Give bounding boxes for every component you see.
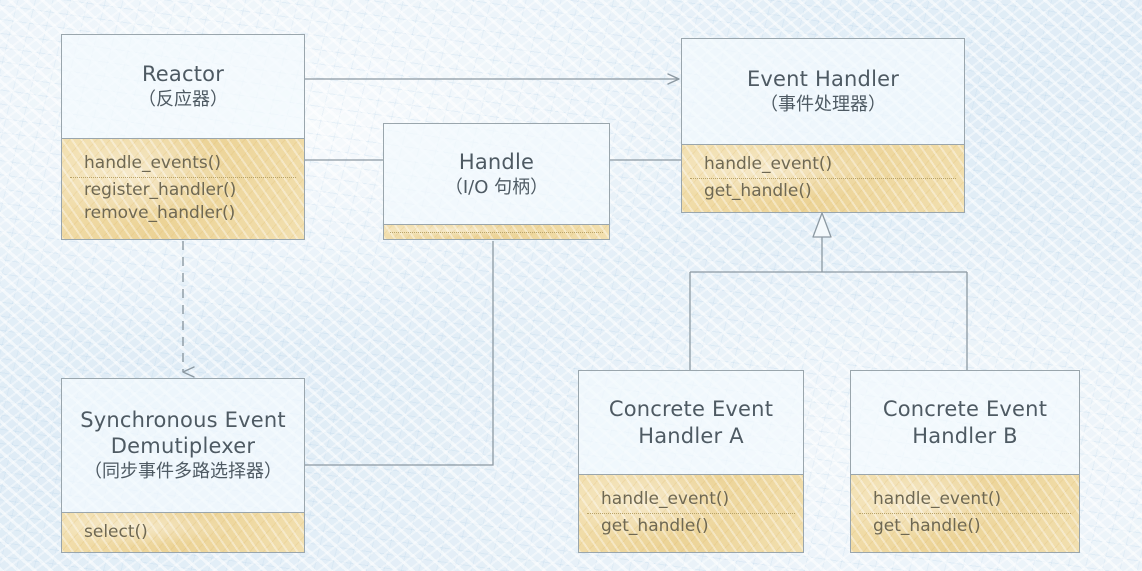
demultiplexer-operations: select(): [62, 512, 304, 552]
concrete-a-op-separator: [587, 513, 795, 514]
concrete-a-title: Concrete Event Handler A: [579, 371, 803, 474]
event-handler-name-cn: （事件处理器）: [760, 93, 886, 116]
handle-title: Handle （I/O 句柄）: [384, 124, 609, 224]
uml-class-sync-event-demultiplexer[interactable]: Synchronous Event Demutiplexer （同步事件多路选择…: [61, 378, 305, 553]
reactor-op-remove-handler: remove_handler(): [62, 205, 304, 223]
connector-generalization-tree: [690, 213, 967, 370]
reactor-title: Reactor （反应器）: [62, 35, 304, 138]
concrete-a-op-handle-event: handle_event(): [579, 491, 803, 509]
demultiplexer-title: Synchronous Event Demutiplexer （同步事件多路选择…: [62, 379, 304, 512]
reactor-operations: handle_events() register_handler() remov…: [62, 138, 304, 239]
concrete-b-title: Concrete Event Handler B: [851, 371, 1079, 474]
event-handler-name-en: Event Handler: [747, 66, 899, 92]
concrete-b-op-separator: [859, 513, 1071, 514]
uml-class-concrete-event-handler-b[interactable]: Concrete Event Handler B handle_event() …: [850, 370, 1080, 553]
event-handler-title: Event Handler （事件处理器）: [682, 39, 964, 144]
reactor-op-handle-events: handle_events(): [62, 155, 304, 173]
concrete-b-name-en: Concrete Event Handler B: [883, 396, 1047, 448]
reactor-op-register-handler: register_handler(): [62, 182, 304, 200]
event-handler-op-separator: [690, 178, 956, 179]
uml-class-concrete-event-handler-a[interactable]: Concrete Event Handler A handle_event() …: [578, 370, 804, 553]
connector-handle-to-demultiplexer: [305, 241, 493, 465]
concrete-b-op-get-handle: get_handle(): [851, 518, 1079, 536]
reactor-name-cn: （反应器）: [138, 88, 228, 111]
diagram-canvas: Reactor （反应器） handle_events() register_h…: [0, 0, 1142, 571]
concrete-b-op-handle-event: handle_event(): [851, 491, 1079, 509]
handle-name-cn: （I/O 句柄）: [445, 176, 548, 199]
uml-class-event-handler[interactable]: Event Handler （事件处理器） handle_event() get…: [681, 38, 965, 213]
handle-name-en: Handle: [459, 149, 534, 175]
demultiplexer-name-en: Synchronous Event Demutiplexer: [80, 407, 286, 459]
demultiplexer-name-cn: （同步事件多路选择器）: [84, 460, 282, 483]
uml-class-reactor[interactable]: Reactor （反应器） handle_events() register_h…: [61, 34, 305, 240]
reactor-name-en: Reactor: [142, 61, 224, 87]
handle-operations: [384, 224, 609, 239]
event-handler-operations: handle_event() get_handle(): [682, 144, 964, 212]
concrete-a-op-get-handle: get_handle(): [579, 518, 803, 536]
concrete-b-operations: handle_event() get_handle(): [851, 474, 1079, 552]
reactor-op-separator: [70, 177, 296, 178]
uml-class-handle[interactable]: Handle （I/O 句柄）: [383, 123, 610, 240]
event-handler-op-get-handle: get_handle(): [682, 183, 964, 201]
handle-op-separator: [390, 232, 603, 233]
concrete-a-name-en: Concrete Event Handler A: [609, 396, 773, 448]
event-handler-op-handle-event: handle_event(): [682, 156, 964, 174]
concrete-a-operations: handle_event() get_handle(): [579, 474, 803, 552]
demultiplexer-op-select: select(): [62, 524, 304, 542]
